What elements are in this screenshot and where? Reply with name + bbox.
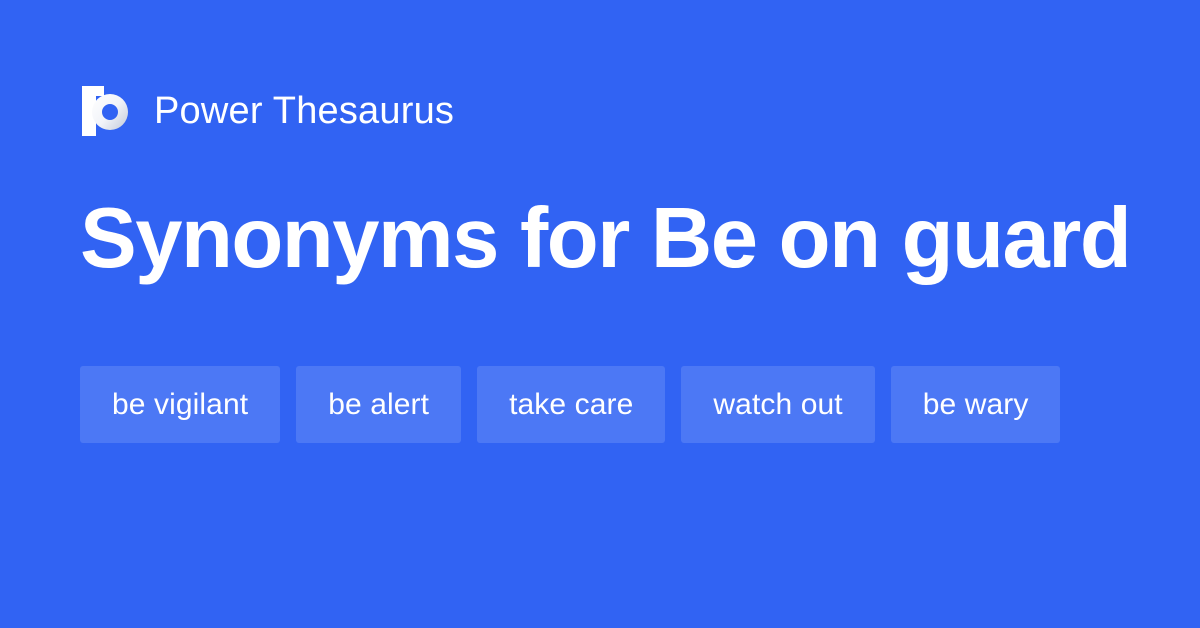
page-root: Power Thesaurus Synonyms for Be on guard… — [0, 0, 1200, 628]
brand-logo[interactable]: Power Thesaurus — [80, 82, 454, 140]
synonym-chip[interactable]: be wary — [891, 366, 1061, 443]
synonym-chip[interactable]: watch out — [681, 366, 874, 443]
page-title: Synonyms for Be on guard — [80, 196, 1130, 281]
brand-name: Power Thesaurus — [154, 92, 454, 130]
synonym-chip[interactable]: take care — [477, 366, 665, 443]
synonym-chip[interactable]: be alert — [296, 366, 461, 443]
synonym-chip[interactable]: be vigilant — [80, 366, 280, 443]
power-thesaurus-b-logo-icon — [80, 84, 132, 138]
synonym-chip-list: be vigilant be alert take care watch out… — [80, 366, 1120, 443]
